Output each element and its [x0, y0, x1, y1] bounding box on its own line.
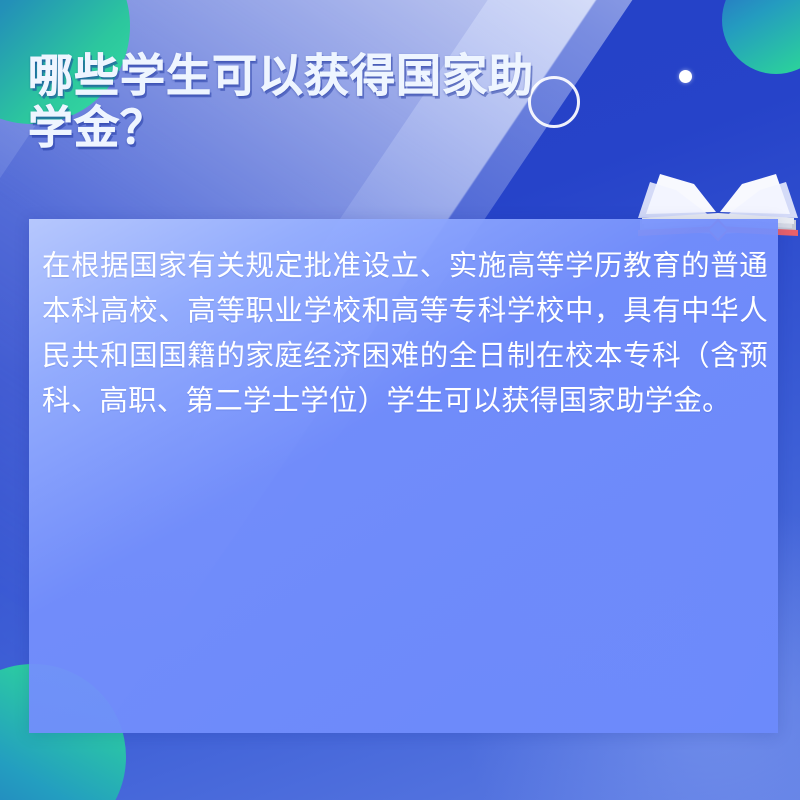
- content-panel: 在根据国家有关规定批准设立、实施高等学历教育的普通本科高校、高等职业学校和高等专…: [29, 219, 778, 733]
- title-line-1: 哪些学生可以获得国家助: [28, 50, 648, 102]
- white-dot-icon: [679, 70, 692, 83]
- body-paragraph: 在根据国家有关规定批准设立、实施高等学历教育的普通本科高校、高等职业学校和高等专…: [42, 243, 768, 423]
- poster-title: 哪些学生可以获得国家助 学金？: [28, 50, 648, 154]
- title-line-2: 学金？: [28, 102, 648, 154]
- poster-canvas: 哪些学生可以获得国家助 学金？ 在根据国家有关规定批准设立、实施高等学历教育的普…: [0, 0, 800, 800]
